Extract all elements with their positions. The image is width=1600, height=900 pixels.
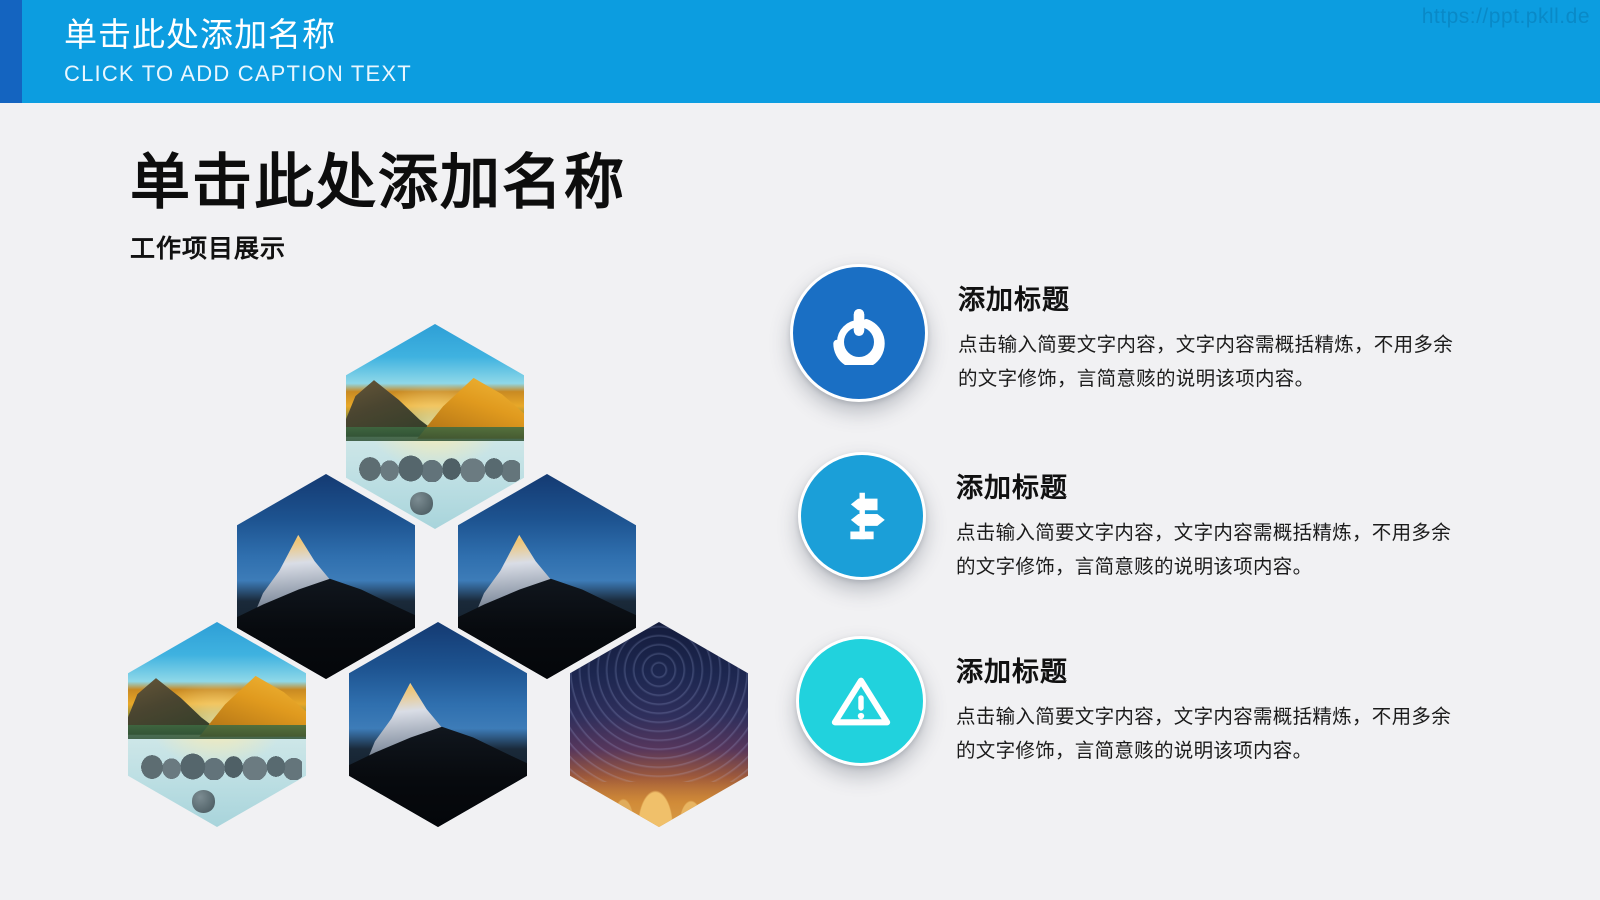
feature-rows: 添加标题 点击输入简要文字内容，文字内容需概括精炼，不用多余的文字修饰，言简意赅…: [790, 0, 1600, 900]
feature-title-3: 添加标题: [956, 650, 1456, 689]
hex-bottom-center[interactable]: [349, 622, 527, 827]
hex-top-center[interactable]: [346, 324, 524, 529]
power-icon: [827, 301, 891, 365]
feature-row-2: 添加标题 点击输入简要文字内容，文字内容需概括精炼，不用多余的文字修饰，言简意赅…: [798, 452, 1456, 583]
photo-star-trails-rocks: [570, 622, 748, 827]
feature-row-3: 添加标题 点击输入简要文字内容，文字内容需概括精炼，不用多余的文字修饰，言简意赅…: [796, 636, 1456, 767]
hex-mid-right[interactable]: [458, 474, 636, 679]
photo-lake-sunset-mountains: [346, 324, 524, 529]
photo-lake-sunset-mountains: [128, 622, 306, 827]
feature-text-1: 添加标题 点击输入简要文字内容，文字内容需概括精炼，不用多余的文字修饰，言简意赅…: [958, 264, 1458, 395]
icon-badge-3[interactable]: [796, 636, 926, 766]
hex-bottom-left[interactable]: [128, 622, 306, 827]
icon-badge-2[interactable]: [798, 452, 926, 580]
feature-title-2: 添加标题: [956, 466, 1456, 505]
hex-bottom-right[interactable]: [570, 622, 748, 827]
hexagon-image-cluster: [0, 0, 800, 900]
photo-snow-peak-alpenglow: [349, 622, 527, 827]
feature-text-3: 添加标题 点击输入简要文字内容，文字内容需概括精炼，不用多余的文字修饰，言简意赅…: [956, 636, 1456, 767]
warning-triangle-icon: [830, 670, 892, 732]
hex-mid-left[interactable]: [237, 474, 415, 679]
photo-snow-peak-alpenglow: [237, 474, 415, 679]
signpost-icon: [831, 485, 893, 547]
feature-text-2: 添加标题 点击输入简要文字内容，文字内容需概括精炼，不用多余的文字修饰，言简意赅…: [956, 452, 1456, 583]
feature-row-1: 添加标题 点击输入简要文字内容，文字内容需概括精炼，不用多余的文字修饰，言简意赅…: [790, 264, 1458, 402]
feature-desc-2: 点击输入简要文字内容，文字内容需概括精炼，不用多余的文字修饰，言简意赅的说明该项…: [956, 516, 1456, 583]
photo-snow-peak-alpenglow: [458, 474, 636, 679]
feature-desc-3: 点击输入简要文字内容，文字内容需概括精炼，不用多余的文字修饰，言简意赅的说明该项…: [956, 700, 1456, 767]
feature-desc-1: 点击输入简要文字内容，文字内容需概括精炼，不用多余的文字修饰，言简意赅的说明该项…: [958, 328, 1458, 395]
icon-badge-1[interactable]: [790, 264, 928, 402]
feature-title-1: 添加标题: [958, 278, 1458, 317]
